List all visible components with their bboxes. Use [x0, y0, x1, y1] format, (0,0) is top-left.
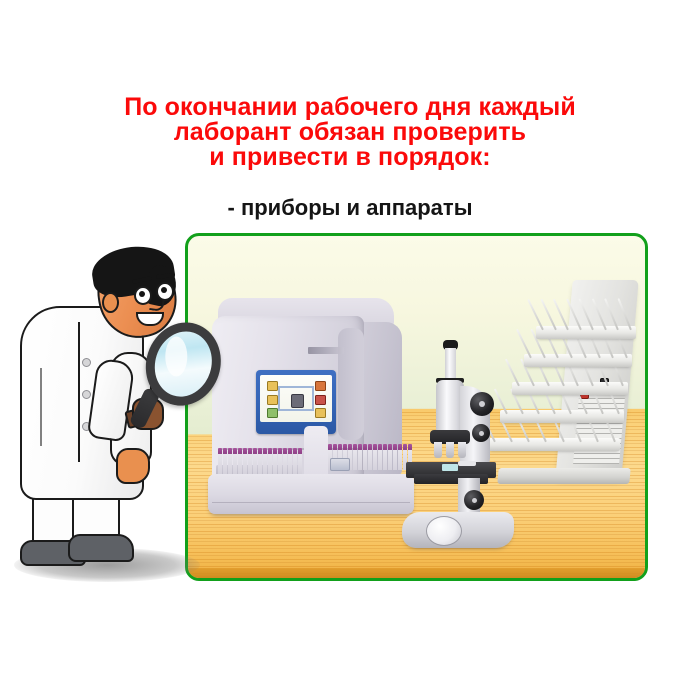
test-tube [243, 448, 247, 474]
analyzer-base [208, 474, 414, 514]
technician-pupil-right [161, 287, 167, 293]
test-tube [353, 444, 357, 470]
microscope-mirror [426, 516, 462, 546]
test-tube [373, 444, 377, 470]
screen-icon-report [315, 408, 326, 418]
coat-button [82, 390, 91, 399]
test-tube [258, 448, 262, 474]
screen-icon-analyzer [291, 394, 304, 408]
screen-link [312, 386, 314, 411]
test-tube [363, 444, 367, 470]
analyzer-logo [308, 347, 344, 354]
subtitle: - приборы и аппараты [0, 196, 700, 220]
microscope-knob-center [479, 401, 485, 407]
test-tube [388, 444, 392, 470]
test-tube [288, 448, 292, 474]
title-line-2: лаборант обязан проверить [0, 120, 700, 145]
coat-button [82, 358, 91, 367]
technician-shoe-right [68, 534, 134, 562]
coat-center-fold [78, 322, 80, 462]
microscope-objective-lens [458, 442, 466, 458]
screen-icon-ok [267, 408, 278, 418]
screen-link [278, 386, 280, 411]
analyzer-side-notch [338, 328, 364, 440]
technician-pupil-left [139, 291, 145, 297]
title-line-3: и привести в порядок: [0, 145, 700, 170]
dryer-shelf [524, 354, 632, 367]
technician-ear [102, 292, 119, 313]
test-tube [358, 444, 362, 470]
microscope [400, 340, 528, 552]
test-tube [383, 444, 387, 470]
test-tube [378, 444, 382, 470]
screen-link [278, 409, 314, 411]
screen-link [278, 386, 314, 388]
test-tube [283, 448, 287, 474]
screen-icon-error [315, 395, 326, 405]
microscope-specimen-slide [442, 464, 458, 471]
test-tube [263, 448, 267, 474]
test-tube [273, 448, 277, 474]
screen-icon-alert [315, 381, 326, 391]
microscope-knob-center [479, 431, 484, 436]
test-tube [298, 448, 302, 474]
analyzer-base-seam [212, 502, 410, 503]
test-tube [223, 448, 227, 474]
screen-icon-reagent [267, 395, 278, 405]
microscope-stage-clip [458, 461, 476, 466]
test-tube [238, 448, 242, 474]
screen-icon-sample [267, 381, 278, 391]
microscope-tube [445, 348, 456, 382]
page-title: По окончании рабочего дня каждый лаборан… [0, 95, 700, 170]
test-tube [393, 444, 397, 470]
microscope-knob-center [472, 498, 477, 503]
test-tube [253, 448, 257, 474]
dryer-shelf [536, 326, 636, 339]
test-tube [248, 448, 252, 474]
hematology-analyzer [212, 298, 402, 510]
slide-root: По окончании рабочего дня каждый лаборан… [0, 0, 700, 700]
microscope-objective-lens [434, 442, 442, 458]
dryer-shelf [512, 382, 628, 395]
analyzer-screen[interactable] [260, 375, 332, 422]
test-tube [233, 448, 237, 474]
test-tube [268, 448, 272, 474]
test-tube [293, 448, 297, 474]
table-front-edge [185, 568, 648, 581]
technician-hand-right [116, 448, 150, 484]
test-tube [278, 448, 282, 474]
analyzer-control-badge[interactable] [330, 458, 350, 471]
lab-technician [6, 248, 192, 600]
photo-panel-inner [188, 236, 645, 578]
test-tube [218, 448, 222, 474]
coat-side-fold [40, 368, 42, 446]
photo-panel [185, 233, 648, 581]
analyzer-screen-bezel[interactable] [256, 370, 336, 434]
title-line-1: По окончании рабочего дня каждый [0, 95, 700, 120]
test-tube [228, 448, 232, 474]
test-tube [368, 444, 372, 470]
microscope-objective-lens [446, 442, 454, 458]
